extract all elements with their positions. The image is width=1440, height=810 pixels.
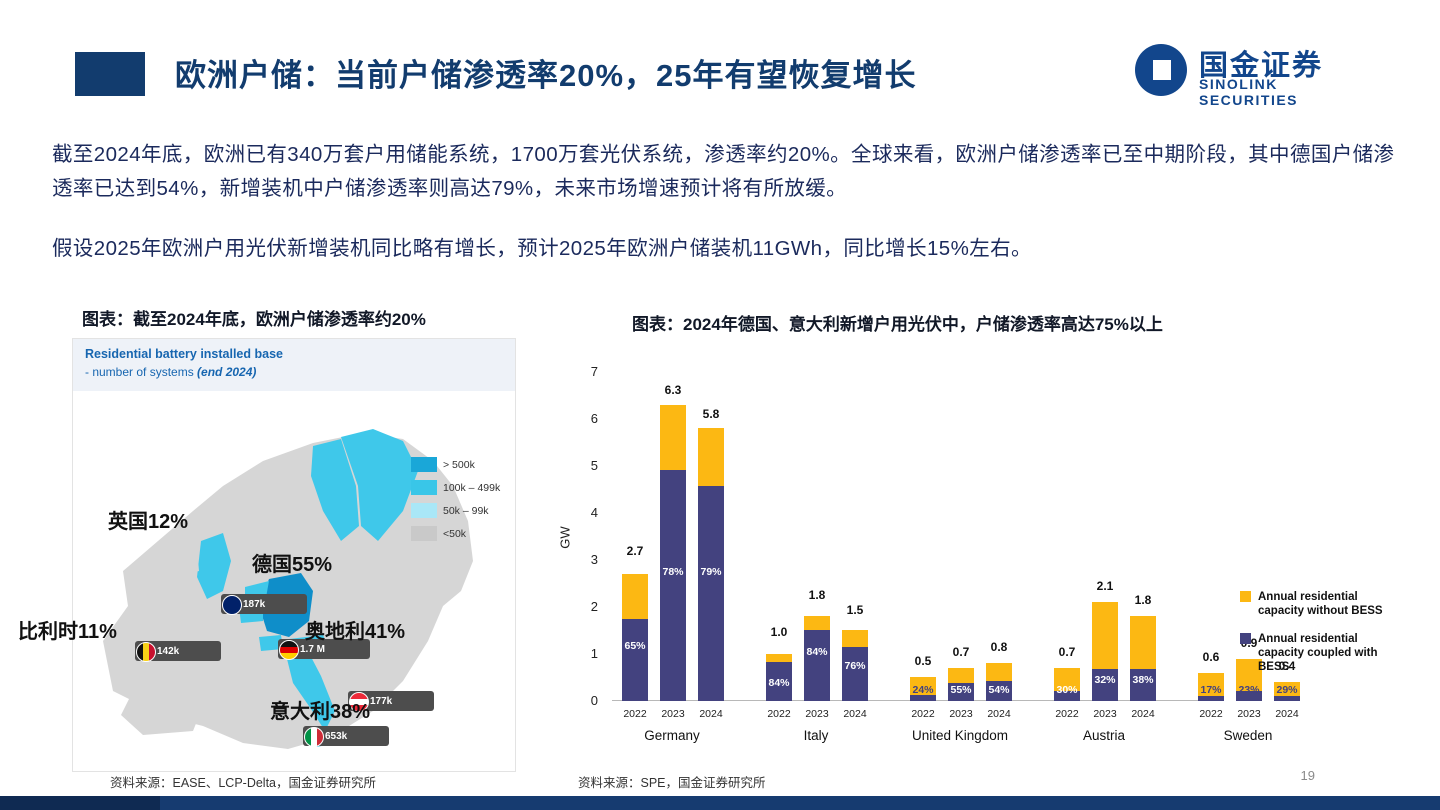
bar-italy-2024 [842, 340, 868, 701]
bar-germany-2024 [698, 340, 724, 701]
bar-segment-without-bess [948, 668, 974, 683]
x-tick-label: 2023 [1232, 708, 1266, 720]
bar-total-label: 0.7 [941, 645, 981, 659]
x-tick-label: 2024 [1126, 708, 1160, 720]
legend-swatch-icon [411, 526, 437, 541]
bar-segment-without-bess [622, 574, 648, 619]
bar-total-label: 1.8 [797, 588, 837, 602]
map-pin-value: 142k [157, 646, 179, 657]
bar-segment-without-bess [1092, 602, 1118, 669]
x-tick-label: 2024 [694, 708, 728, 720]
title-bar: 欧洲户储：当前户储渗透率20%，25年有望恢复增长 国金证券 SINOLINK … [75, 52, 1365, 100]
legend-swatch-icon [411, 457, 437, 472]
group-label-sweden: Sweden [1178, 728, 1318, 743]
x-tick-label: 2023 [800, 708, 834, 720]
x-tick-label: 2024 [1270, 708, 1304, 720]
bar-segment-with-bess [698, 486, 724, 701]
bar-pct-label: 54% [986, 684, 1012, 696]
bar-segment-without-bess [660, 405, 686, 470]
legend-label: Annual residential capacity coupled with… [1258, 633, 1378, 673]
bar-pct-label: 65% [622, 640, 648, 652]
bar-segment-with-bess [842, 647, 868, 701]
flag-italy-icon [304, 727, 324, 747]
bar-segment-with-bess [622, 619, 648, 701]
legend-label: 50k – 99k [443, 505, 489, 517]
bar-segment-without-bess [766, 654, 792, 662]
legend-item: 50k – 99k [411, 499, 501, 522]
footer-bar [0, 796, 1440, 810]
bar-pct-label: 17% [1198, 684, 1224, 696]
bar-segment-without-bess [842, 630, 868, 647]
legend-item-without-bess: Annual residential capacity without BESS [1240, 590, 1390, 618]
bar-segment-without-bess [698, 428, 724, 486]
y-tick-4: 4 [574, 505, 598, 520]
bar-total-label: 0.5 [903, 654, 943, 668]
logo-mark-icon [1135, 44, 1187, 96]
left-chart-caption: 图表：截至2024年底，欧洲户储渗透率约20% [82, 305, 426, 330]
x-tick-label: 2022 [618, 708, 652, 720]
bar-total-label: 1.0 [759, 625, 799, 639]
flag-belgium-icon [136, 642, 156, 662]
legend-swatch-icon [1240, 591, 1251, 602]
bar-uk-2022 [910, 340, 936, 701]
legend-item-with-bess: Annual residential capacity coupled with… [1240, 632, 1390, 674]
paragraph-2: 假设2025年欧洲户用光伏新增装机同比略有增长，预计2025年欧洲户储装机11G… [52, 232, 1402, 266]
map-pin-italy: 653k [303, 726, 389, 746]
map-pin-value: 187k [243, 599, 265, 610]
legend-label: > 500k [443, 459, 475, 471]
x-tick-label: 2023 [944, 708, 978, 720]
company-logo: 国金证券 SINOLINK SECURITIES [1135, 40, 1365, 106]
country-label-austria: 奥地利41% [305, 615, 405, 644]
bar-total-label: 1.8 [1123, 593, 1163, 607]
group-label-austria: Austria [1034, 728, 1174, 743]
bar-segment-without-bess [1130, 616, 1156, 669]
bar-segment-without-bess [986, 663, 1012, 681]
legend-swatch-icon [1240, 633, 1251, 644]
bar-segment-without-bess [804, 616, 830, 630]
x-tick-label: 2024 [838, 708, 872, 720]
x-tick-label: 2023 [1088, 708, 1122, 720]
x-tick-label: 2022 [762, 708, 796, 720]
bar-italy-2022 [766, 340, 792, 701]
legend-item: 100k – 499k [411, 476, 501, 499]
bar-total-label: 2.1 [1085, 579, 1125, 593]
y-tick-6: 6 [574, 411, 598, 426]
country-label-belgium: 比利时11% [18, 615, 117, 644]
bar-austria-2024 [1130, 340, 1156, 701]
bar-pct-label: 84% [804, 646, 830, 658]
map-title: Residential battery installed base [85, 347, 283, 361]
bar-segment-with-bess [1198, 696, 1224, 701]
legend-item: <50k [411, 522, 501, 545]
bar-sweden-2022 [1198, 340, 1224, 701]
country-label-germany: 德国55% [252, 548, 332, 577]
country-label-italy: 意大利38% [270, 695, 370, 724]
x-tick-label: 2022 [906, 708, 940, 720]
right-chart-caption: 图表：2024年德国、意大利新增户用光伏中，户储渗透率高达75%以上 [632, 310, 1163, 335]
map-header: Residential battery installed base - num… [73, 339, 515, 391]
y-tick-3: 3 [574, 552, 598, 567]
x-tick-label: 2022 [1050, 708, 1084, 720]
group-label-uk: United Kingdom [890, 728, 1030, 743]
map-pin-value: 1.7 M [300, 644, 325, 655]
legend-swatch-icon [411, 503, 437, 518]
map-pin-belgium: 142k [135, 641, 221, 661]
page-number: 19 [1301, 768, 1315, 783]
bar-segment-with-bess [1274, 696, 1300, 701]
chart-legend: Annual residential capacity without BESS… [1240, 590, 1390, 688]
group-label-italy: Italy [746, 728, 886, 743]
bar-total-label: 0.6 [1191, 650, 1231, 664]
bar-austria-2023 [1092, 340, 1118, 701]
page-title: 欧洲户储：当前户储渗透率20%，25年有望恢复增长 [175, 50, 917, 95]
map-pin-value: 653k [325, 731, 347, 742]
map-legend: > 500k 100k – 499k 50k – 99k <50k [411, 453, 501, 545]
left-chart-source: 资料来源：EASE、LCP-Delta，国金证券研究所 [110, 772, 376, 791]
legend-label: <50k [443, 528, 466, 540]
y-tick-2: 2 [574, 599, 598, 614]
bar-total-label: 5.8 [691, 407, 731, 421]
y-axis-label: GW [558, 526, 573, 548]
x-tick-label: 2023 [656, 708, 690, 720]
map-pin-value: 177k [370, 696, 392, 707]
bar-total-label: 0.7 [1047, 645, 1087, 659]
map-subtitle-plain: - number of systems [85, 365, 197, 379]
logo-english-name: SINOLINK SECURITIES [1199, 76, 1365, 108]
y-tick-7: 7 [574, 364, 598, 379]
map-subtitle-emphasis: (end 2024) [197, 365, 256, 379]
title-accent-block [75, 52, 145, 96]
right-chart-source: 资料来源：SPE，国金证券研究所 [578, 772, 766, 791]
flag-germany-icon [279, 640, 299, 660]
bar-pct-label: 84% [766, 677, 792, 689]
flag-uk-icon [222, 595, 242, 615]
legend-label: Annual residential capacity without BESS [1258, 591, 1383, 617]
y-tick-0: 0 [574, 693, 598, 708]
legend-item: > 500k [411, 453, 501, 476]
legend-label: 100k – 499k [443, 482, 500, 494]
paragraph-1: 截至2024年底，欧洲已有340万套户用储能系统，1700万套光伏系统，渗透率约… [52, 138, 1402, 206]
bar-pct-label: 38% [1130, 674, 1156, 686]
legend-swatch-icon [411, 480, 437, 495]
bar-total-label: 1.5 [835, 603, 875, 617]
x-tick-label: 2022 [1194, 708, 1228, 720]
bar-total-label: 2.7 [615, 544, 655, 558]
map-pin-uk: 187k [221, 594, 307, 614]
bar-pct-label: 30% [1054, 684, 1080, 696]
bar-pct-label: 76% [842, 660, 868, 672]
map-subtitle: - number of systems (end 2024) [85, 365, 256, 379]
bar-pct-label: 24% [910, 684, 936, 696]
y-tick-5: 5 [574, 458, 598, 473]
y-tick-1: 1 [574, 646, 598, 661]
bar-chart: GW 0 1 2 3 4 5 6 7 2.7 65% 6.3 78% 5.8 7… [560, 340, 1390, 760]
bar-total-label: 0.8 [979, 640, 1019, 654]
country-label-uk: 英国12% [108, 505, 188, 534]
bar-total-label: 6.3 [653, 383, 693, 397]
bar-pct-label: 32% [1092, 674, 1118, 686]
group-label-germany: Germany [602, 728, 742, 743]
bar-segment-with-bess [804, 630, 830, 701]
x-tick-label: 2024 [982, 708, 1016, 720]
bar-pct-label: 55% [948, 684, 974, 696]
bar-pct-label: 78% [660, 566, 686, 578]
bar-segment-with-bess [660, 470, 686, 701]
bar-pct-label: 79% [698, 566, 724, 578]
